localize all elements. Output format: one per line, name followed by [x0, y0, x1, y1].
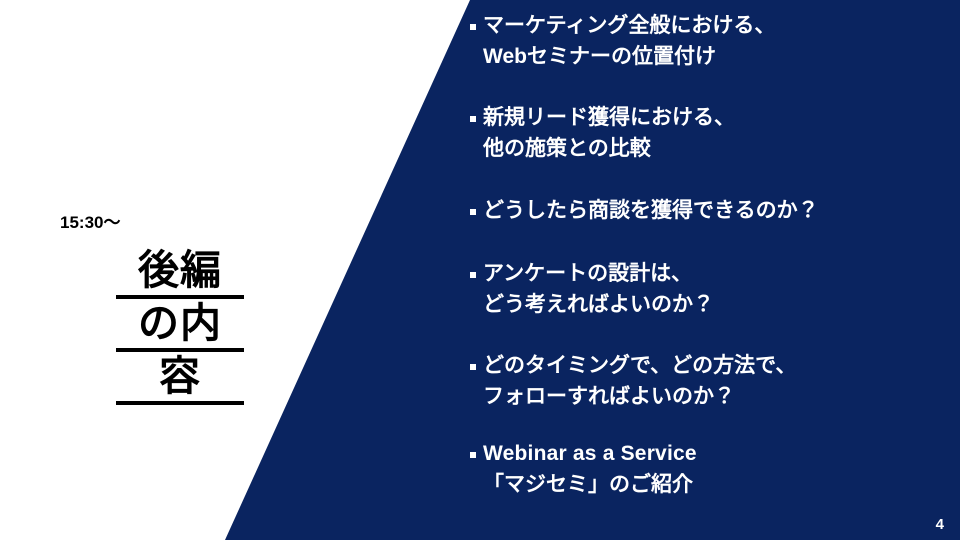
page-number: 4: [936, 517, 944, 532]
bullet-line-secondary: どう考えればよいのか？: [470, 289, 940, 320]
bullet-line-primary: アンケートの設計は、: [470, 258, 940, 289]
bullet-line-primary: 新規リード獲得における、: [470, 102, 940, 133]
bullet-text: Webセミナーの位置付け: [483, 45, 716, 68]
bullet-text: どう考えればよいのか？: [483, 293, 714, 316]
bullet-text: どのタイミングで、どの方法で、: [483, 354, 796, 377]
section-title: 後編 の内 容: [116, 246, 244, 405]
bullet-item: 新規リード獲得における、 他の施策との比較: [470, 102, 940, 164]
bullet-list: マーケティング全般における、 Webセミナーの位置付け 新規リード獲得における、…: [470, 0, 940, 540]
left-title-column: 15:30～ 後編 の内 容: [0, 0, 440, 540]
bullet-line-secondary: 「マジセミ」のご紹介: [470, 469, 940, 500]
square-bullet-icon: [470, 268, 483, 281]
section-title-line-3: 容: [116, 352, 244, 405]
section-title-line-2: の内: [116, 299, 244, 352]
time-label: 15:30～: [60, 208, 120, 233]
bullet-line-primary: どのタイミングで、どの方法で、: [470, 350, 940, 381]
bullet-item: どのタイミングで、どの方法で、 フォローすればよいのか？: [470, 350, 940, 412]
bullet-text: どうしたら商談を獲得できるのか？: [483, 199, 819, 222]
bullet-text: 他の施策との比較: [483, 137, 651, 160]
bullet-text: フォローすればよいのか？: [483, 385, 735, 408]
bullet-line-primary: Webinar as a Service: [470, 438, 940, 469]
bullet-line-secondary: 他の施策との比較: [470, 133, 940, 164]
bullet-line-primary: マーケティング全般における、: [470, 10, 940, 41]
bullet-item: どうしたら商談を獲得できるのか？: [470, 195, 940, 226]
square-bullet-icon: [470, 448, 483, 461]
square-bullet-icon: [470, 205, 483, 218]
bullet-line-secondary: フォローすればよいのか？: [470, 381, 940, 412]
slide-canvas: 15:30～ 後編 の内 容 マーケティング全般における、 Webセミナーの位置…: [0, 0, 960, 540]
bullet-text: Webinar as a Service: [483, 442, 697, 465]
square-bullet-icon: [470, 112, 483, 125]
square-bullet-icon: [470, 360, 483, 373]
bullet-text: 新規リード獲得における、: [483, 106, 735, 129]
section-title-line-1: 後編: [116, 246, 244, 299]
bullet-text: 「マジセミ」のご紹介: [483, 473, 693, 496]
bullet-text: アンケートの設計は、: [483, 262, 692, 285]
bullet-item: マーケティング全般における、 Webセミナーの位置付け: [470, 10, 940, 72]
bullet-line-primary: どうしたら商談を獲得できるのか？: [470, 195, 940, 226]
square-bullet-icon: [470, 20, 483, 33]
bullet-line-secondary: Webセミナーの位置付け: [470, 41, 940, 72]
bullet-item: Webinar as a Service 「マジセミ」のご紹介: [470, 438, 940, 500]
bullet-item: アンケートの設計は、 どう考えればよいのか？: [470, 258, 940, 320]
bullet-text: マーケティング全般における、: [483, 14, 775, 37]
